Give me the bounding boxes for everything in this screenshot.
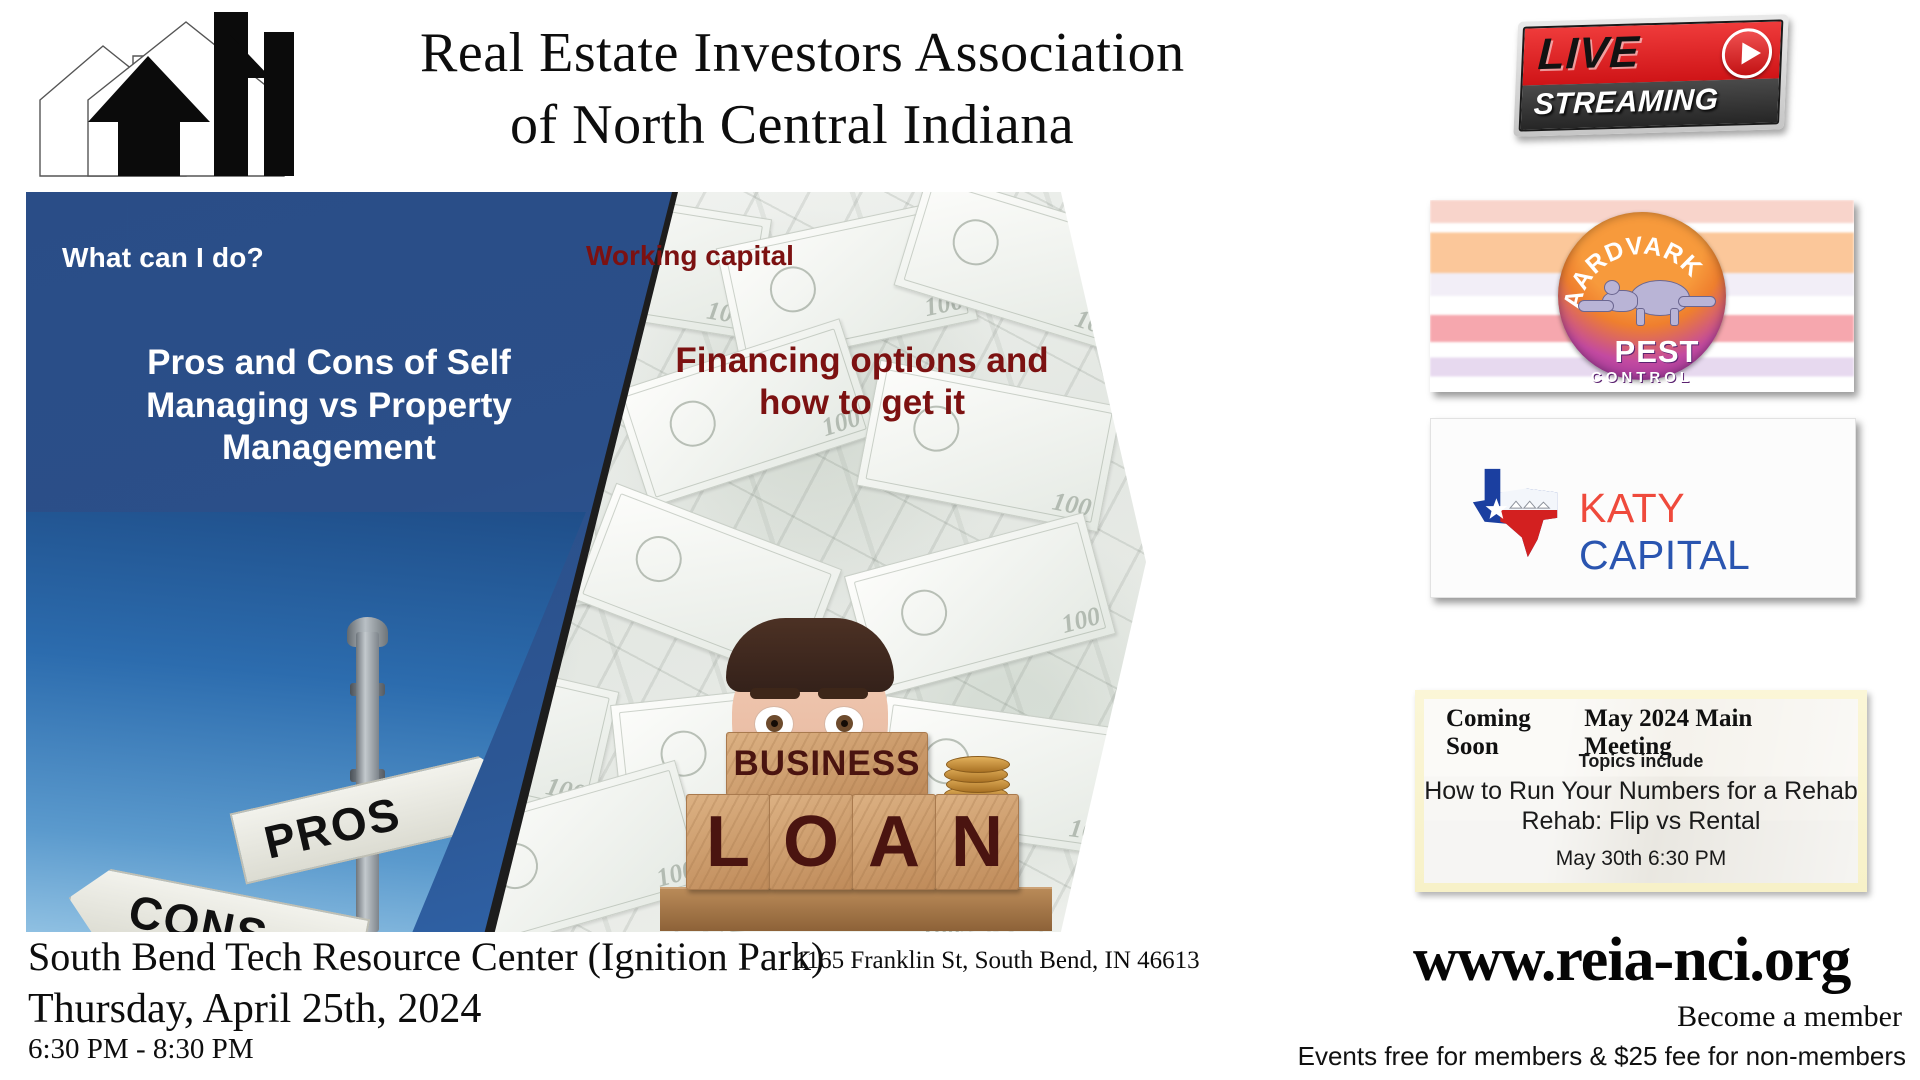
streaming-label: STREAMING [1533, 83, 1719, 122]
house-logo-icon [28, 4, 358, 182]
website-link[interactable]: www.reia-nci.org [1413, 925, 1850, 996]
block-business-label: BUSINESS [734, 744, 921, 784]
aardvark-pest-label: PEST [1582, 334, 1732, 370]
page-title: Real Estate Investors Association of Nor… [420, 18, 1350, 161]
right-kicker-label: Working capital [586, 240, 794, 272]
left-headline: Pros and Cons of Self Managing vs Proper… [64, 342, 594, 470]
hex-banner: 100 100 100 100 100 100 100 100 100 100 … [26, 192, 1146, 932]
block-letter-o: O [769, 794, 853, 890]
topic-2: Rehab: Flip vs Rental [1424, 807, 1858, 836]
become-a-member-label[interactable]: Become a member [1677, 1000, 1902, 1034]
topic-1: How to Run Your Numbers for a Rehab [1424, 777, 1858, 806]
sponsor-katy-capital[interactable]: KATY CAPITAL [1430, 418, 1856, 598]
live-streaming-badge: LIVE STREAMING [1513, 14, 1788, 136]
topics-label: Topics include [1424, 751, 1858, 772]
capital-word: CAPITAL [1579, 532, 1750, 578]
block-letter-a: A [852, 794, 936, 890]
block-letter-n: N [935, 794, 1019, 890]
business-loan-blocks: BUSINESS L O A N [686, 732, 1016, 902]
venue-name: South Bend Tech Resource Center (Ignitio… [28, 933, 824, 980]
block-business: BUSINESS [726, 732, 928, 796]
header: Real Estate Investors Association of Nor… [0, 0, 1400, 190]
coming-soon-box[interactable]: Coming Soon May 2024 Main Meeting Topics… [1415, 690, 1867, 892]
block-letter-l: L [686, 794, 770, 890]
coming-soon-datetime: May 30th 6:30 PM [1424, 847, 1858, 871]
aardvark-control-label: CONTROL [1572, 369, 1712, 386]
play-icon [1721, 28, 1773, 79]
venue-address: 1165 Franklin St, South Bend, IN 46613 [795, 947, 1200, 975]
live-label: LIVE [1537, 27, 1641, 80]
flyer-canvas: Real Estate Investors Association of Nor… [0, 0, 1920, 1080]
fees-note: Events free for members & $25 fee for no… [1298, 1041, 1906, 1072]
katy-capital-wordmark: KATY CAPITAL [1579, 485, 1855, 579]
org-title-line-2: of North Central Indiana [420, 90, 1350, 162]
aardvark-logo-icon: AARDVARK PEST CONTROL INC [1558, 212, 1726, 380]
event-time: 6:30 PM - 8:30 PM [28, 1033, 254, 1066]
texas-state-icon [1467, 463, 1565, 561]
left-question-label: What can I do? [62, 242, 264, 274]
event-date: Thursday, April 25th, 2024 [28, 985, 481, 1033]
org-title-line-1: Real Estate Investors Association [420, 22, 1185, 84]
katy-word: KATY [1579, 485, 1684, 531]
right-headline: Financing options and how to get it [662, 340, 1062, 424]
sign-pros-label: PROS [259, 785, 406, 869]
sponsor-aardvark-pest-control[interactable]: AARDVARK PEST CONTROL INC [1430, 200, 1854, 392]
